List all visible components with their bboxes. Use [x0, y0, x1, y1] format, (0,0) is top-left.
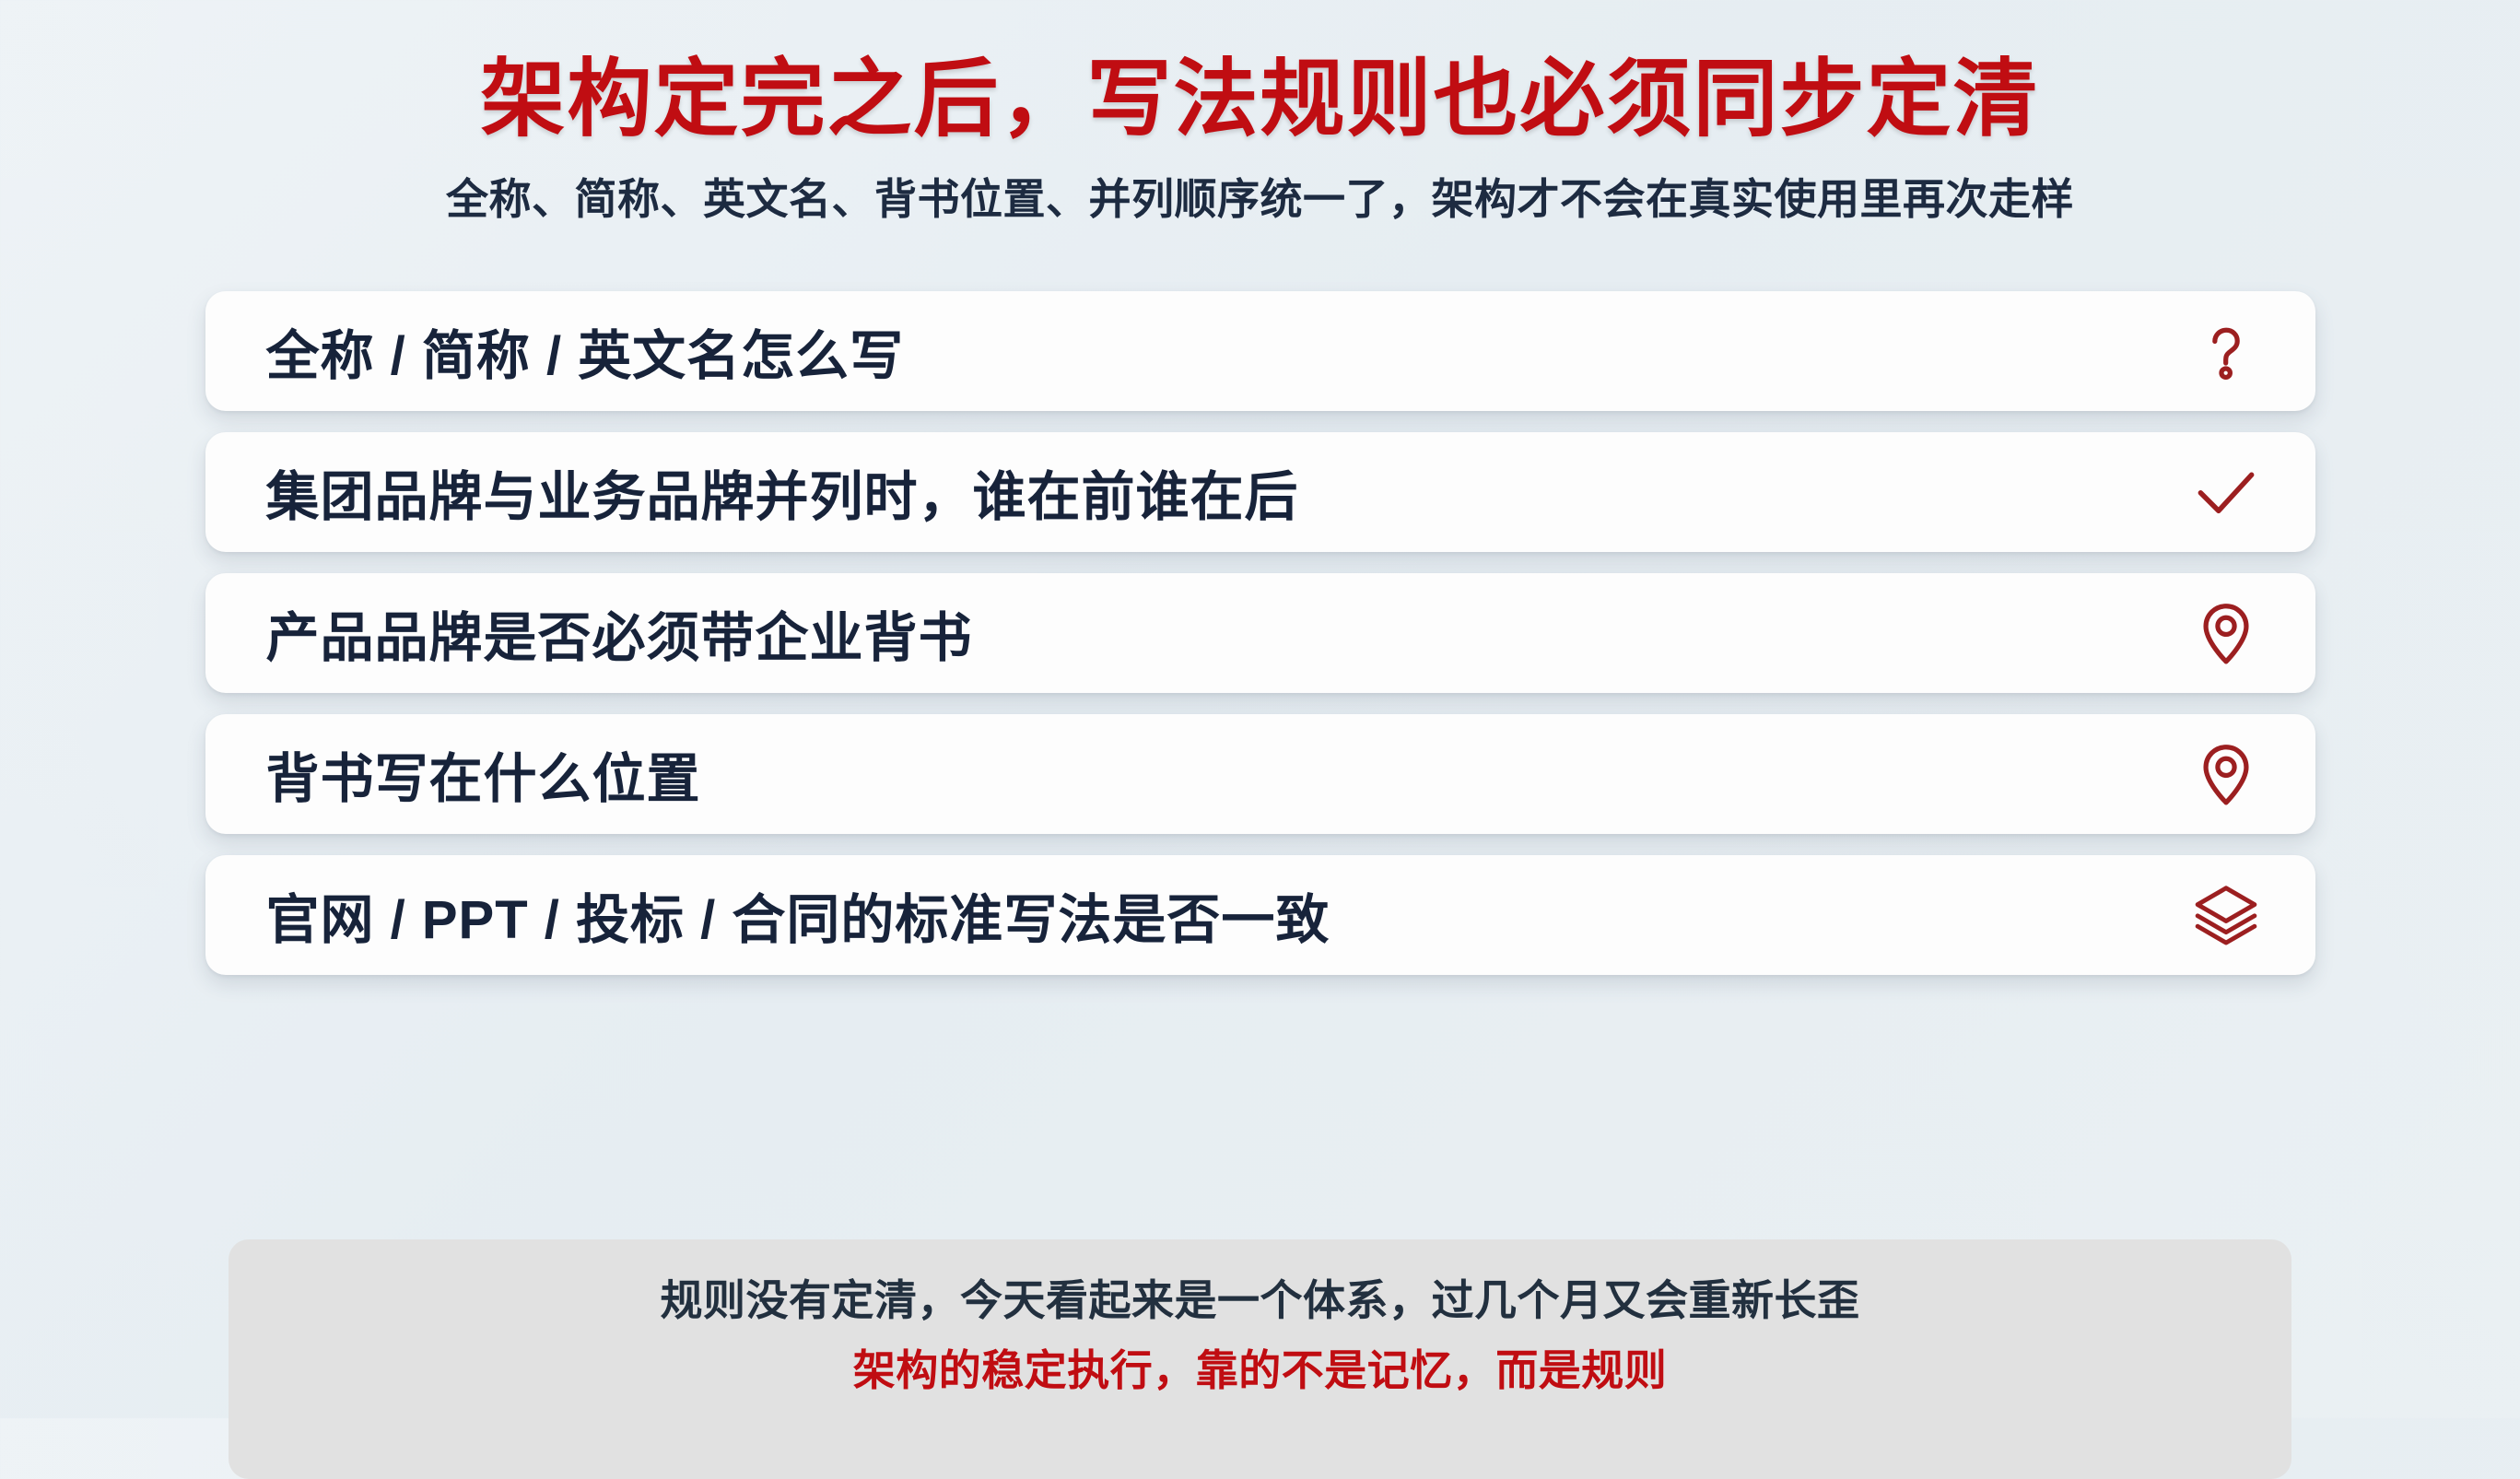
check-mark-icon — [2190, 456, 2262, 528]
layers-icon — [2190, 879, 2262, 951]
slide-root: 架构定完之后，写法规则也必须同步定清 全称、简称、英文名、背书位置、并列顺序统一… — [0, 0, 2520, 1418]
question-mark-icon — [2190, 315, 2262, 387]
page-title: 架构定完之后，写法规则也必须同步定清 — [0, 53, 2520, 147]
list-item-label: 背书写在什么位置 — [266, 735, 701, 813]
footer-panel: 规则没有定清，今天看起来是一个体系，过几个月又会重新长歪 架构的稳定执行，靠的不… — [229, 1239, 2291, 1479]
list-item[interactable]: 全称 / 简称 / 英文名怎么写 — [205, 291, 2315, 411]
list-item-label: 产品品牌是否必须带企业背书 — [266, 594, 973, 672]
list-item-label: 全称 / 简称 / 英文名怎么写 — [266, 312, 905, 390]
list-item[interactable]: 集团品牌与业务品牌并列时，谁在前谁在后 — [205, 432, 2315, 552]
footer-note: 规则没有定清，今天看起来是一个体系，过几个月又会重新长歪 — [229, 1274, 2291, 1328]
list-item-label: 官网 / PPT / 投标 / 合同的标准写法是否一致 — [266, 876, 1330, 954]
list-item[interactable]: 背书写在什么位置 — [205, 714, 2315, 834]
page-subtitle: 全称、简称、英文名、背书位置、并列顺序统一了，架构才不会在真实使用里再次走样 — [0, 174, 2520, 225]
footer-conclusion: 架构的稳定执行，靠的不是记忆，而是规则 — [229, 1344, 2291, 1398]
map-pin-icon — [2190, 597, 2262, 669]
list-item-label: 集团品牌与业务品牌并列时，谁在前谁在后 — [266, 453, 1299, 531]
map-pin-icon — [2190, 738, 2262, 810]
list-item[interactable]: 官网 / PPT / 投标 / 合同的标准写法是否一致 — [205, 855, 2315, 975]
header: 架构定完之后，写法规则也必须同步定清 全称、简称、英文名、背书位置、并列顺序统一… — [0, 0, 2520, 225]
list-item[interactable]: 产品品牌是否必须带企业背书 — [205, 573, 2315, 693]
checklist: 全称 / 简称 / 英文名怎么写 集团品牌与业务品牌并列时，谁在前谁在后 产品品… — [205, 225, 2315, 975]
